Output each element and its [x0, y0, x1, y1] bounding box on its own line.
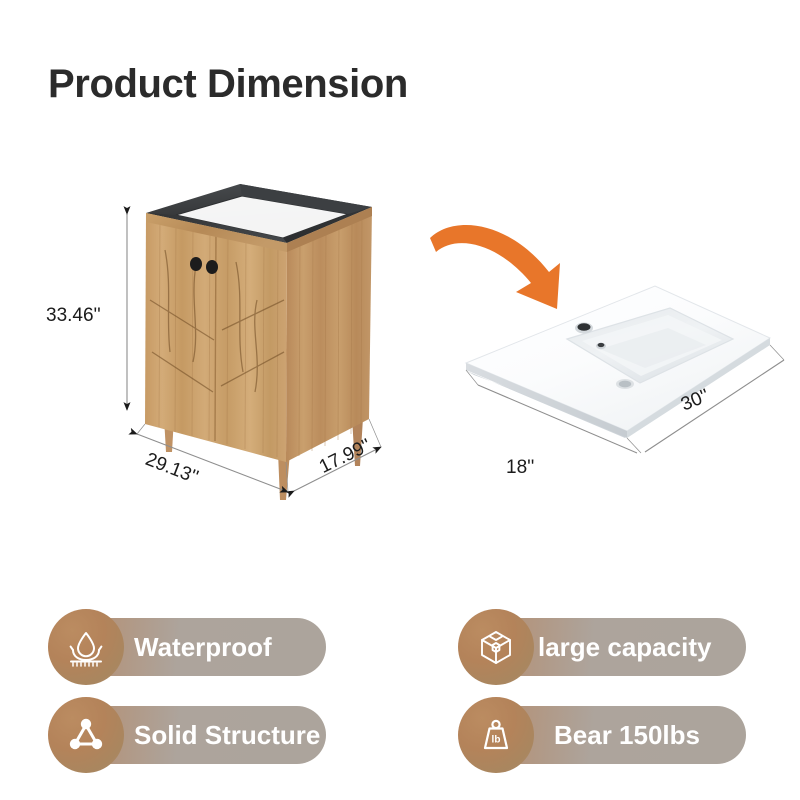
waterproof-icon — [48, 609, 124, 685]
infographic-root: Product Dimension — [0, 0, 800, 800]
feature-pill-waterproof[interactable]: Waterproof — [58, 618, 326, 676]
cabinet-inner-wall-back — [240, 184, 372, 214]
sink-front-edge — [466, 363, 627, 438]
dimension-label-height: 33.46'' — [46, 305, 101, 327]
dimension-line-sink-width — [645, 360, 784, 452]
feature-label-waterproof: Waterproof — [134, 634, 272, 660]
dimension-line-sink-depth — [478, 385, 637, 453]
dimension-label-sink-depth: 18'' — [506, 457, 534, 479]
cabinet-side-panel — [286, 207, 372, 462]
sink-illustration — [466, 286, 784, 453]
feature-pill-bear-weight[interactable]: lb Bear 150lbs — [468, 706, 746, 764]
feature-label-large-capacity: large capacity — [538, 634, 711, 660]
cabinet-knob-right — [206, 260, 218, 274]
feature-label-bear-weight: Bear 150lbs — [554, 722, 700, 748]
cabinet-inner-wall-left — [146, 213, 287, 243]
dimension-label-width: 29.13'' — [142, 449, 201, 489]
orange-curved-arrow — [430, 225, 560, 309]
dimension-label-depth: 17.99'' — [316, 435, 375, 479]
sink-faucet-hole — [575, 323, 593, 334]
bear-weight-icon: lb — [458, 697, 534, 773]
large-capacity-icon — [458, 609, 534, 685]
sink-dimension-lines — [466, 345, 784, 453]
cabinet-front-panel — [145, 213, 287, 462]
page-title: Product Dimension — [48, 62, 408, 107]
solid-structure-icon — [48, 697, 124, 773]
weight-unit-text: lb — [492, 735, 501, 746]
sink-drain — [616, 379, 634, 389]
sink-basin — [567, 308, 733, 383]
cabinet-top-opening — [146, 184, 372, 243]
feature-pill-large-capacity[interactable]: large capacity — [468, 618, 746, 676]
feature-pill-solid-structure[interactable]: Solid Structure — [58, 706, 326, 764]
sink-overflow-hole — [596, 343, 606, 349]
cabinet-knob-left — [190, 257, 202, 271]
cabinet-door-gap — [215, 229, 216, 441]
cabinet-leg-front-right — [278, 452, 290, 500]
feature-label-solid-structure: Solid Structure — [134, 722, 320, 748]
cabinet-leg-front-left — [163, 400, 175, 452]
cabinet-top-rim-side — [287, 207, 372, 252]
sink-top-surface — [466, 286, 770, 431]
cabinet-top-rim — [146, 213, 287, 252]
dimension-label-sink-width: 30'' — [678, 385, 713, 416]
